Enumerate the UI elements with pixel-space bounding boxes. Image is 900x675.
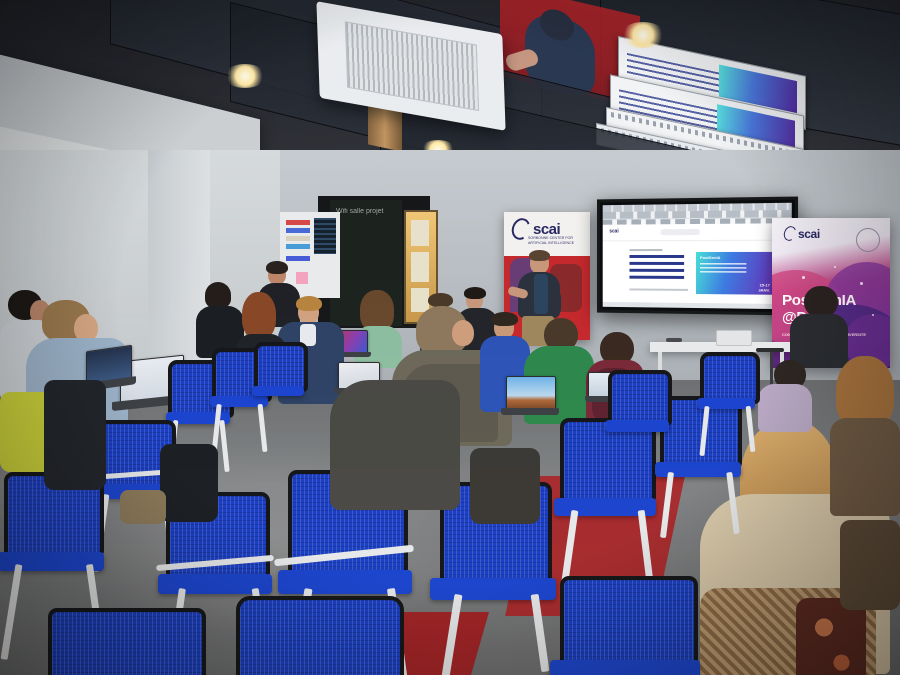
speaker-arm (552, 292, 561, 314)
speaker-hair (529, 250, 550, 261)
attendee (830, 356, 900, 516)
wall-electronics-panel (314, 218, 336, 254)
jacket-on-chair (160, 444, 218, 522)
article-kicker (629, 249, 662, 251)
promo-heading: PostGenIA (700, 255, 720, 260)
ceiling-downlight (620, 22, 666, 48)
scai-logo-icon: scai (784, 226, 820, 241)
scai-wordmark: scai (798, 227, 820, 241)
promo-card[interactable]: PostGenIA 15-17 JANV. (696, 252, 773, 295)
scai-logo-subtitle: SORBONNE CENTER FOR ARTIFICIAL INTELLIGE… (528, 236, 584, 245)
poster-seal-icon (856, 228, 880, 252)
site-search-input[interactable] (660, 229, 699, 235)
attendee (758, 360, 814, 430)
backpack (44, 380, 106, 490)
site-header: scai (603, 223, 792, 241)
browser-window[interactable]: scai PostGenIA 15-17 JANV. (603, 203, 792, 310)
ceiling-downlight (224, 64, 266, 88)
promo-body (700, 263, 746, 275)
conference-room-photo: Wifi salle projet scai SORBONNE CENTER F… (0, 0, 900, 675)
promo-date: 15-17 JANV. (758, 282, 770, 292)
web-page-content: scai PostGenIA 15-17 JANV. (603, 223, 792, 304)
article-meta (629, 288, 688, 290)
remote-clicker[interactable] (666, 338, 682, 342)
attendee (790, 286, 850, 366)
presenter-laptop[interactable] (716, 330, 752, 346)
bag (120, 490, 166, 524)
site-logo: scai (609, 229, 618, 235)
scai-wordmark: scai (533, 222, 560, 237)
coat-on-chair (330, 380, 460, 510)
projection-screen[interactable]: scai PostGenIA 15-17 JANV. (597, 197, 798, 316)
bag (840, 520, 900, 610)
article-title (629, 255, 684, 283)
bag (470, 448, 540, 524)
speaker-shirt (534, 274, 548, 314)
read-more-button[interactable] (629, 302, 650, 306)
chalkboard-text: Wifi salle projet (336, 206, 383, 217)
